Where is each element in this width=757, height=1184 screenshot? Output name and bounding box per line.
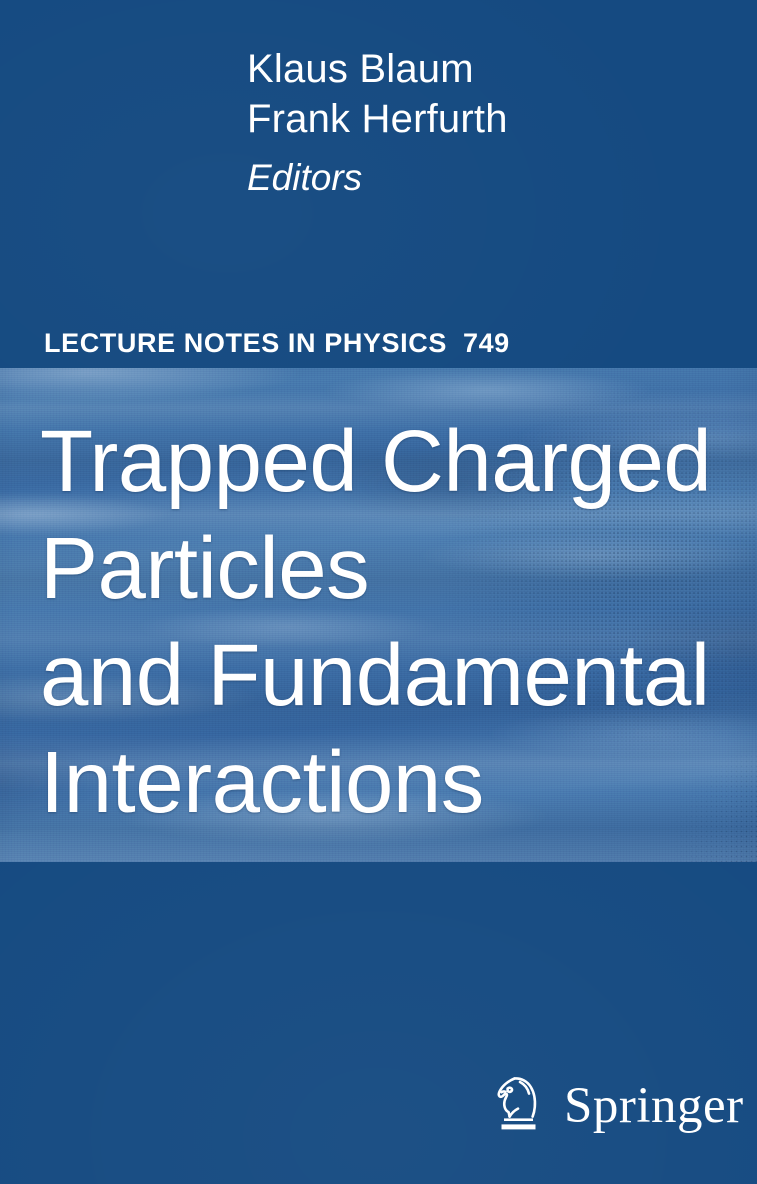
title-line-3: and Fundamental [40,622,730,729]
editors-role-label: Editors [247,154,717,202]
series-name: LECTURE NOTES IN PHYSICS [44,328,447,358]
author-block: Klaus Blaum Frank Herfurth Editors [247,44,717,202]
author-name-2: Frank Herfurth [247,94,717,144]
title-line-2: Particles [40,515,730,622]
series-line: LECTURE NOTES IN PHYSICS749 [44,327,510,359]
series-volume-number: 749 [463,328,510,358]
springer-wordmark: Springer [564,1081,744,1132]
title-line-1: Trapped Charged [40,408,730,515]
author-name-1: Klaus Blaum [247,44,717,94]
book-cover: Klaus Blaum Frank Herfurth Editors LECTU… [0,0,757,1184]
springer-knight-icon [492,1074,550,1139]
publisher-logo: Springer [492,1074,744,1139]
book-title: Trapped Charged Particles and Fundamenta… [40,408,730,836]
title-line-4: Interactions [40,729,730,836]
